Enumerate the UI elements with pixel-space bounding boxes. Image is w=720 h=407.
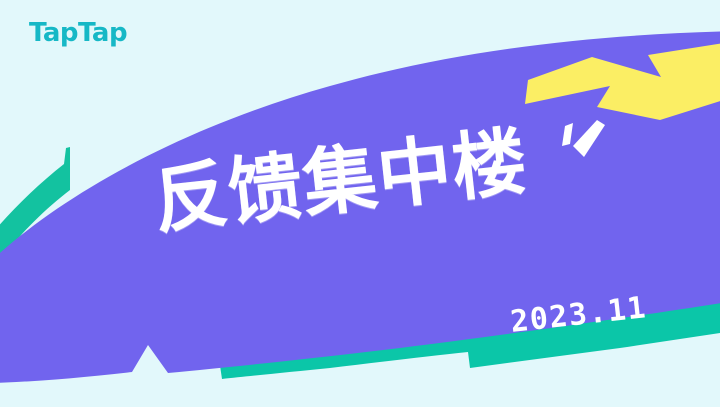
promo-banner: TapTap 反馈集中楼 2023.11 xyxy=(0,0,720,407)
taptap-logo[interactable]: TapTap xyxy=(29,20,127,46)
